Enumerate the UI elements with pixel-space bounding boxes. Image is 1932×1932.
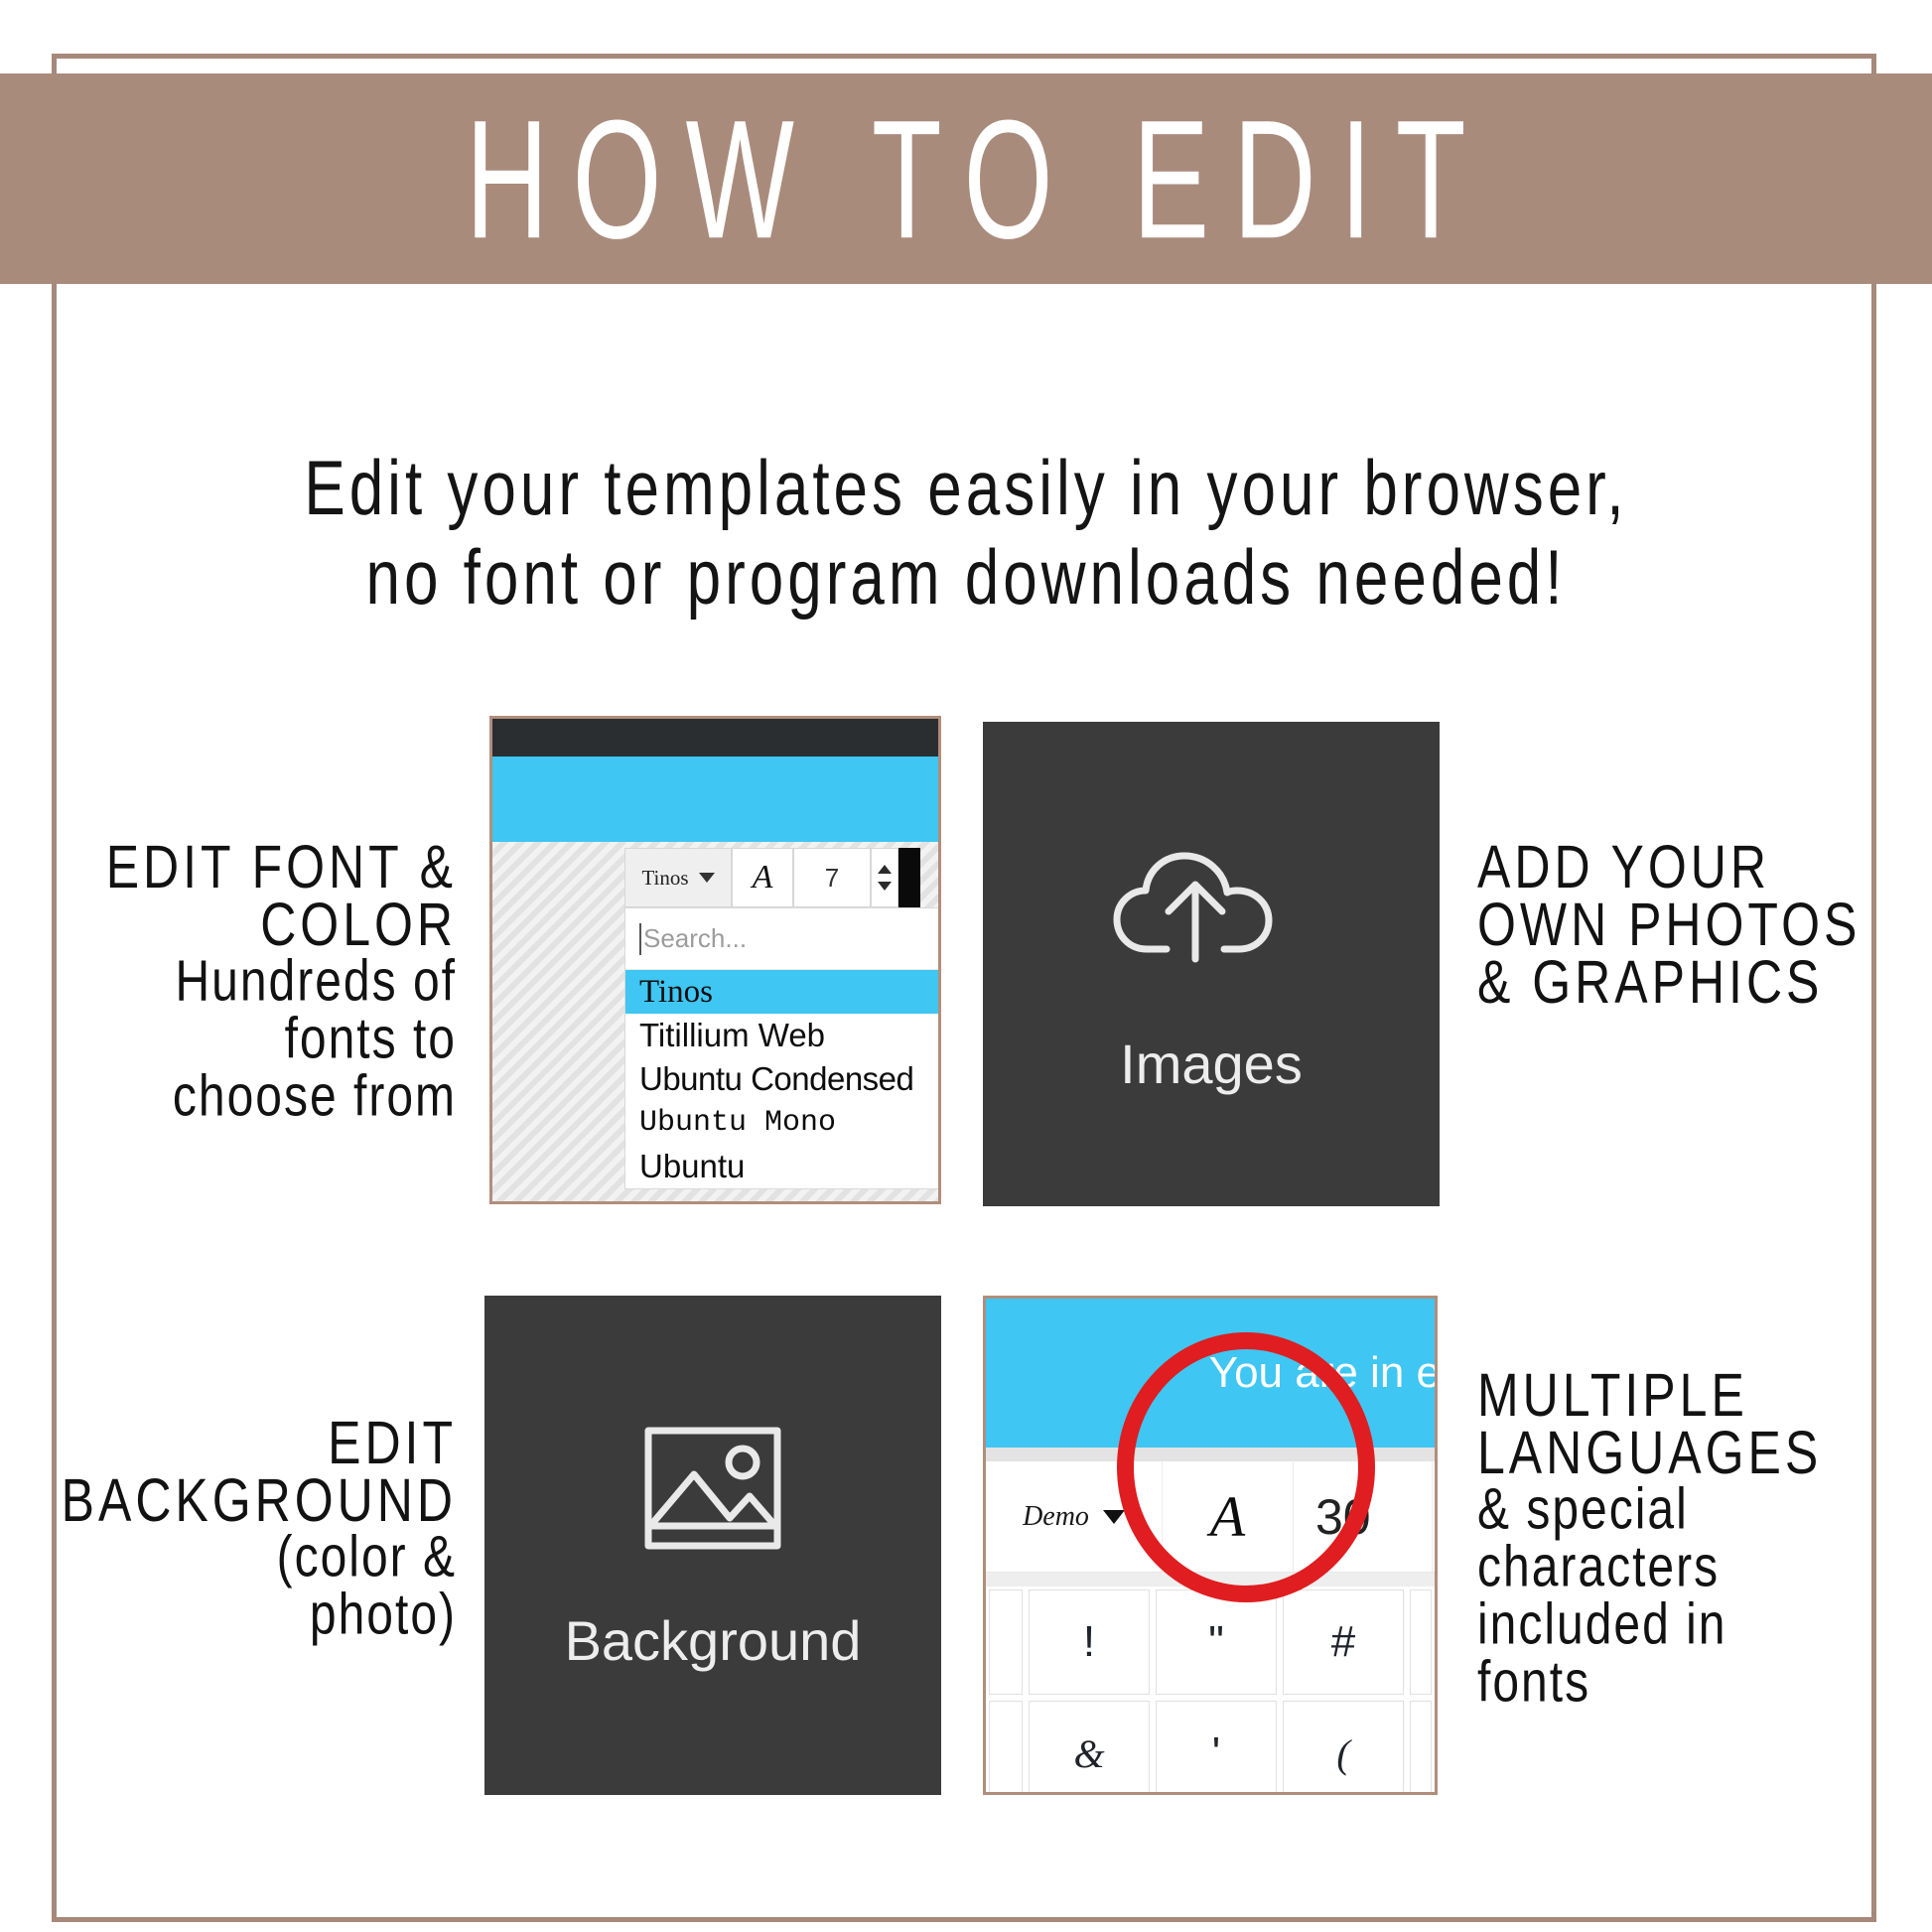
- font-name-dropdown[interactable]: Tinos: [624, 848, 732, 907]
- chevron-down-icon: [699, 873, 715, 883]
- font-name-dropdown[interactable]: Demo: [986, 1461, 1163, 1572]
- subtitle-line-1: Edit your templates easily in your brows…: [304, 446, 1627, 531]
- caption-edit-font-color: EDIT FONT & COLOR Hundreds of fonts to c…: [40, 832, 457, 1120]
- banner-text: You are in e: [1209, 1348, 1438, 1398]
- screenshot-special-characters: You are in e Demo A 30 ! " # & ' (: [983, 1296, 1438, 1795]
- char-cell[interactable]: &: [1029, 1701, 1150, 1795]
- font-style-button[interactable]: A: [1163, 1461, 1294, 1572]
- font-size-stepper[interactable]: [871, 848, 898, 907]
- char-cell[interactable]: [989, 1589, 1023, 1695]
- font-list-item-label: Ubuntu Mono: [639, 1106, 836, 1140]
- char-cell[interactable]: !: [1029, 1589, 1150, 1695]
- char-cell[interactable]: (: [1283, 1701, 1404, 1795]
- caption-line: & GRAPHICS: [1477, 947, 1904, 1018]
- editor-titlebar: [492, 719, 938, 757]
- caption-line: choose from: [40, 1062, 457, 1133]
- color-swatch-button[interactable]: [898, 848, 920, 907]
- font-size-input[interactable]: 30: [1294, 1461, 1433, 1572]
- subtitle-line-2: no font or program downloads needed!: [0, 534, 1932, 623]
- chevron-down-icon: [1103, 1510, 1125, 1524]
- font-size-input[interactable]: 7: [793, 848, 871, 907]
- poster-root: HOW TO EDIT Edit your templates easily i…: [0, 0, 1932, 1932]
- caption-edit-background: EDIT BACKGROUND (color & photo): [40, 1408, 457, 1638]
- caption-multiple-languages: MULTIPLE LANGUAGES & special characters …: [1477, 1360, 1904, 1706]
- script-a-icon: A: [753, 859, 773, 897]
- page-title: HOW TO EDIT: [442, 81, 1490, 276]
- cloud-upload-icon: [1107, 832, 1315, 986]
- char-toolbar: Demo A 30: [986, 1461, 1435, 1573]
- font-list-item-label: Ubuntu: [639, 1148, 745, 1185]
- font-size-value: 30: [1315, 1488, 1371, 1546]
- font-list-item[interactable]: Ubuntu Mono: [625, 1101, 941, 1145]
- stepper-down-icon[interactable]: [878, 882, 892, 891]
- char-cell[interactable]: [1410, 1701, 1432, 1795]
- char-cell[interactable]: [989, 1701, 1023, 1795]
- font-list-item-label: Titillium Web: [639, 1017, 825, 1054]
- caption-line: photo): [40, 1581, 457, 1651]
- tile-images-label: Images: [1120, 1032, 1303, 1096]
- font-name-label: Demo: [1023, 1501, 1089, 1533]
- char-cell[interactable]: ': [1156, 1701, 1277, 1795]
- font-list-item[interactable]: Ubuntu: [625, 1145, 941, 1188]
- font-list-item-label: Tinos: [639, 974, 713, 1011]
- tile-background-label: Background: [565, 1608, 862, 1673]
- font-search-input[interactable]: Search...: [625, 908, 941, 970]
- font-size-value: 7: [825, 863, 839, 894]
- font-list-item[interactable]: Titillium Web: [625, 1014, 941, 1057]
- text-cursor-icon: [639, 923, 641, 955]
- char-cell[interactable]: ": [1156, 1589, 1277, 1695]
- caption-add-photos: ADD YOUR OWN PHOTOS & GRAPHICS: [1477, 832, 1904, 1005]
- font-list-dropdown[interactable]: Search... Tinos Titillium Web Ubuntu Con…: [624, 907, 941, 1189]
- char-cell[interactable]: [1410, 1589, 1432, 1695]
- tile-background[interactable]: Background: [484, 1296, 941, 1795]
- caption-line: fonts: [1477, 1648, 1904, 1719]
- character-grid: ! " # & ' (: [986, 1587, 1435, 1795]
- editor-canvas: Tinos A 7 Search...: [492, 842, 938, 1201]
- screenshot-font-picker: Tinos A 7 Search...: [489, 716, 941, 1204]
- tile-images[interactable]: Images: [983, 722, 1440, 1206]
- stepper-up-icon[interactable]: [878, 865, 892, 874]
- font-search-placeholder: Search...: [643, 923, 747, 954]
- font-style-button[interactable]: A: [732, 848, 793, 907]
- font-list-item[interactable]: Tinos: [625, 970, 941, 1014]
- font-list-item[interactable]: Ubuntu Condensed: [625, 1057, 941, 1101]
- editor-cyan-banner: You are in e: [986, 1299, 1435, 1448]
- subtitle: Edit your templates easily in your brows…: [0, 445, 1932, 623]
- script-a-icon: A: [1210, 1483, 1245, 1550]
- picture-icon: [638, 1419, 787, 1563]
- font-list-item-label: Ubuntu Condensed: [639, 1060, 913, 1098]
- grid-divider: [986, 1573, 1435, 1587]
- editor-cyan-banner: [492, 757, 938, 842]
- font-toolbar: Tinos A 7: [624, 848, 920, 907]
- toolbar-divider: [986, 1448, 1435, 1461]
- char-cell[interactable]: #: [1283, 1589, 1404, 1695]
- font-name-label: Tinos: [641, 866, 688, 891]
- header-band: HOW TO EDIT: [0, 73, 1932, 284]
